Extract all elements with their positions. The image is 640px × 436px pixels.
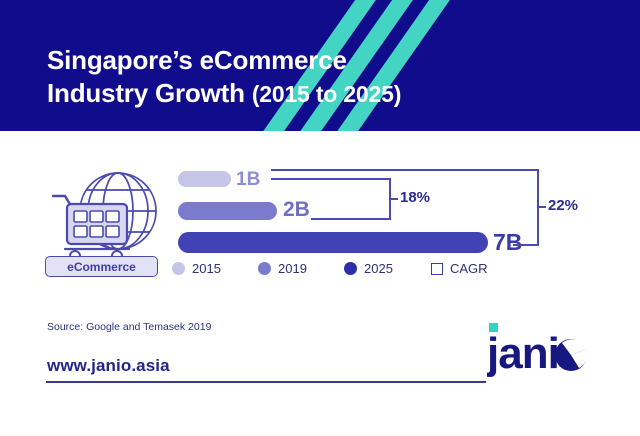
cagr-18-bracket-tick — [389, 198, 398, 200]
url-underline-rule — [46, 381, 486, 383]
svg-text:jani: jani — [487, 329, 559, 378]
chart-body: eCommerce 1B 2B 7B 18% 22% 2015 201 — [0, 131, 640, 436]
website-url[interactable]: www.janio.asia — [47, 356, 170, 376]
title-line-2-main: Industry Growth — [47, 78, 252, 108]
cagr-18-label: 18% — [400, 189, 430, 206]
legend-item-2025: 2025 — [344, 261, 393, 276]
title-line-2: Industry Growth (2015 to 2025) — [47, 77, 477, 110]
bar-2015 — [178, 171, 231, 187]
bar-value-2015: 1B — [236, 169, 260, 191]
ecommerce-badge: eCommerce — [45, 256, 158, 277]
legend-swatch-2019-icon — [258, 262, 271, 275]
bar-value-2019: 2B — [283, 198, 310, 222]
cagr-18-bracket-bottom — [311, 218, 391, 220]
title-line-1: Singapore’s eCommerce — [47, 44, 477, 77]
legend-label-2025: 2025 — [364, 261, 393, 276]
header-banner: Singapore’s eCommerce Industry Growth (2… — [0, 0, 640, 131]
legend-item-2015: 2015 — [172, 261, 221, 276]
cagr-22-bracket-tick — [537, 206, 546, 208]
legend-label-2015: 2015 — [192, 261, 221, 276]
chart-legend: 2015 2019 2025 CAGR — [172, 261, 512, 281]
legend-item-2019: 2019 — [258, 261, 307, 276]
cagr-22-bracket-bottom — [513, 244, 539, 246]
bar-value-2025: 7B — [493, 229, 522, 256]
infographic-page: Singapore’s eCommerce Industry Growth (2… — [0, 0, 640, 436]
title-line-2-subtitle: (2015 to 2025) — [252, 81, 401, 107]
legend-swatch-cagr-icon — [431, 263, 443, 275]
cagr-22-label: 22% — [548, 197, 578, 214]
legend-swatch-2025-icon — [344, 262, 357, 275]
source-attribution: Source: Google and Temasek 2019 — [47, 321, 211, 333]
bar-2025 — [178, 232, 488, 253]
legend-label-cagr: CAGR — [450, 261, 488, 276]
page-title: Singapore’s eCommerce Industry Growth (2… — [47, 44, 477, 111]
bar-2019 — [178, 202, 277, 220]
legend-item-cagr: CAGR — [431, 261, 488, 276]
janio-logo: jani — [487, 321, 592, 379]
legend-label-2019: 2019 — [278, 261, 307, 276]
legend-swatch-2015-icon — [172, 262, 185, 275]
cagr-22-bracket-top — [271, 169, 539, 171]
cagr-18-bracket-top — [271, 178, 391, 180]
